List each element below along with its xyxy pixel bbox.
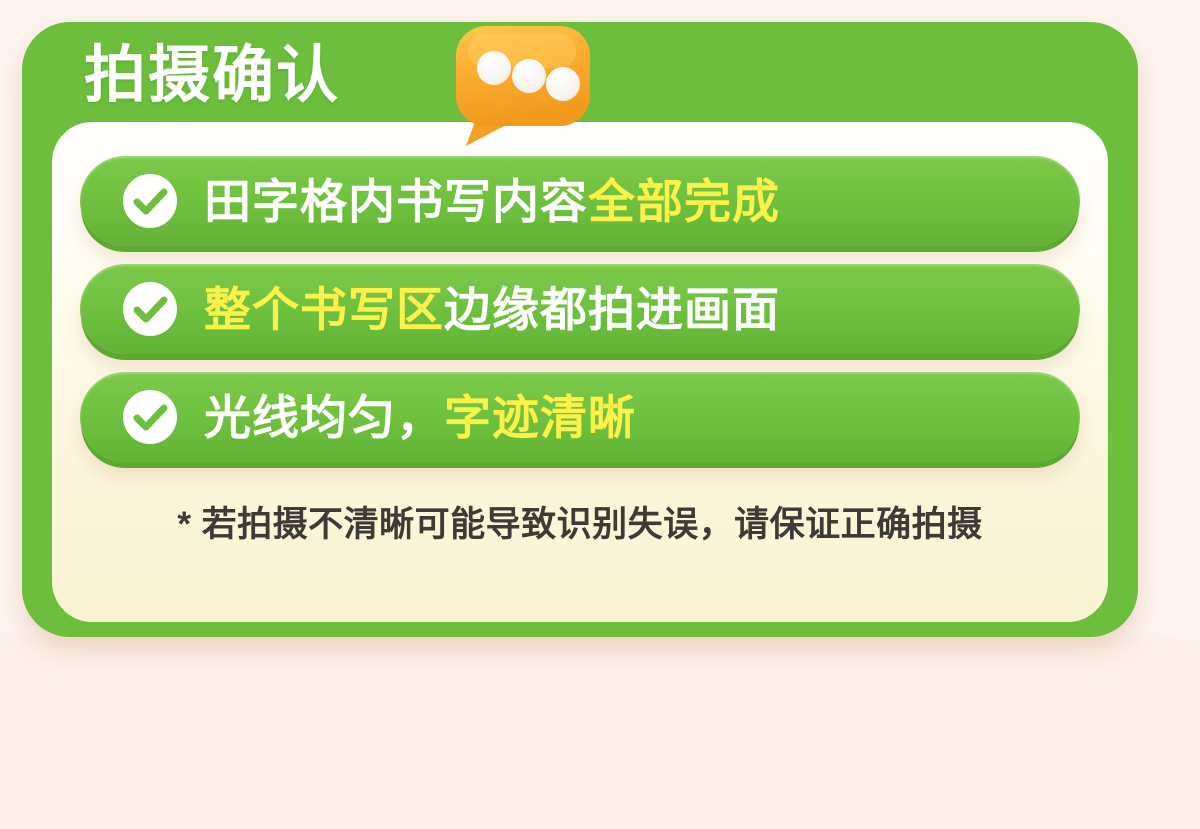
checklist-item-3-text: 光线均匀， [204,394,444,441]
photo-confirmation-card: 拍摄确认 [22,22,1138,637]
checklist: 田字格内书写内容 全部完成 整个书写区 边缘都拍进画面 [80,156,1080,462]
footnote-warning: * 若拍摄不清晰可能导致识别失误，请保证正确拍摄 [80,496,1080,547]
checklist-item-1-highlight: 全部完成 [588,178,780,225]
checklist-item-3[interactable]: 光线均匀， 字迹清晰 [80,372,1080,462]
checklist-item-2-highlight: 整个书写区 [204,286,444,333]
checklist-item-3-highlight: 字迹清晰 [444,394,636,441]
checklist-item-2-text: 边缘都拍进画面 [444,286,780,333]
checklist-item-1[interactable]: 田字格内书写内容 全部完成 [80,156,1080,246]
check-circle-icon [122,281,178,337]
checklist-panel: 田字格内书写内容 全部完成 整个书写区 边缘都拍进画面 [52,122,1108,622]
checklist-item-2[interactable]: 整个书写区 边缘都拍进画面 [80,264,1080,354]
background-band-mid [0,640,1200,829]
checklist-item-1-text: 田字格内书写内容 [204,178,588,225]
speech-bubble-icon [446,20,598,158]
check-circle-icon [122,389,178,445]
check-circle-icon [122,173,178,229]
page-title: 拍摄确认 [84,45,340,107]
